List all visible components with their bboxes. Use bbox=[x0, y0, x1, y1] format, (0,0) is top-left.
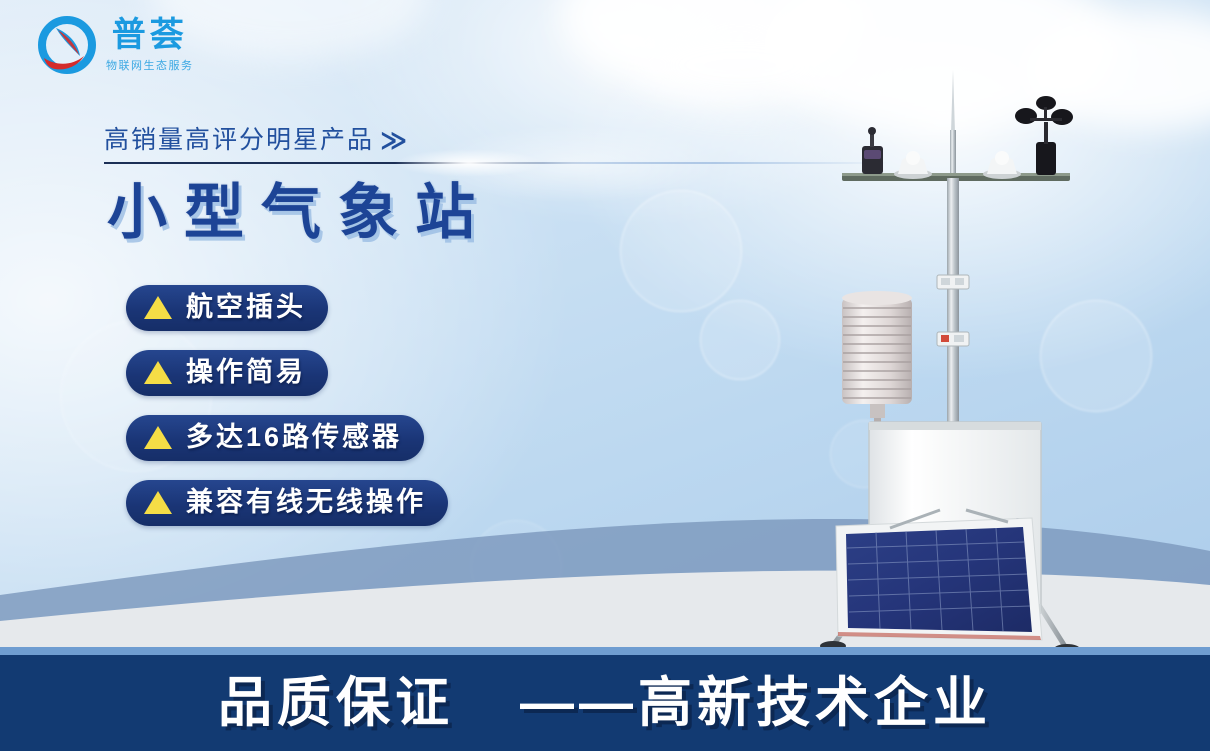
feature-label: 兼容有线无线操作 bbox=[186, 489, 426, 516]
divider-rule bbox=[104, 162, 890, 164]
feature-item: 兼容有线无线操作 bbox=[126, 480, 448, 526]
brand-tagline: 物联网生态服务 bbox=[106, 57, 194, 73]
feature-item: 航空插头 bbox=[126, 285, 328, 331]
kicker-block: 高销量高评分明星产品 ≫ bbox=[104, 126, 894, 164]
bokeh-circle bbox=[620, 190, 742, 312]
feature-item: 操作简易 bbox=[126, 350, 328, 396]
footer-strip bbox=[0, 647, 1210, 655]
triangle-bullet-icon bbox=[144, 296, 172, 319]
feature-label: 多达16路传感器 bbox=[186, 424, 402, 451]
brand-logo: 普荟 物联网生态服务 bbox=[36, 14, 194, 76]
double-chevron-icon: ≫ bbox=[380, 126, 409, 155]
brand-name: 普荟 bbox=[112, 18, 188, 52]
page-title: 小型气象站 bbox=[107, 178, 492, 247]
solar-panel bbox=[836, 518, 1042, 640]
circular-swoosh-logo-icon bbox=[36, 14, 98, 76]
weather-station-photo bbox=[790, 70, 1170, 650]
triangle-bullet-icon bbox=[144, 426, 172, 449]
triangle-bullet-icon bbox=[144, 491, 172, 514]
lens-flare-core bbox=[394, 149, 544, 177]
bokeh-circle bbox=[700, 300, 780, 380]
footer-sub-text: ——高新技术企业 bbox=[520, 676, 992, 730]
promo-banner: 普荟 物联网生态服务 高销量高评分明星产品 ≫ 小型气象站 航空插头 操作简易 … bbox=[0, 0, 1210, 751]
footer-main-text: 品质保证 bbox=[218, 676, 454, 730]
kicker-text: 高销量高评分明星产品 bbox=[104, 127, 374, 155]
feature-label: 操作简易 bbox=[186, 359, 306, 386]
triangle-bullet-icon bbox=[144, 361, 172, 384]
brand-text: 普荟 物联网生态服务 bbox=[106, 18, 194, 73]
footer-banner: 品质保证 ——高新技术企业 bbox=[0, 655, 1210, 751]
radiation-shield bbox=[842, 291, 912, 430]
feature-list: 航空插头 操作简易 多达16路传感器 兼容有线无线操作 bbox=[126, 285, 448, 526]
feature-label: 航空插头 bbox=[186, 294, 306, 321]
feature-item: 多达16路传感器 bbox=[126, 415, 424, 461]
